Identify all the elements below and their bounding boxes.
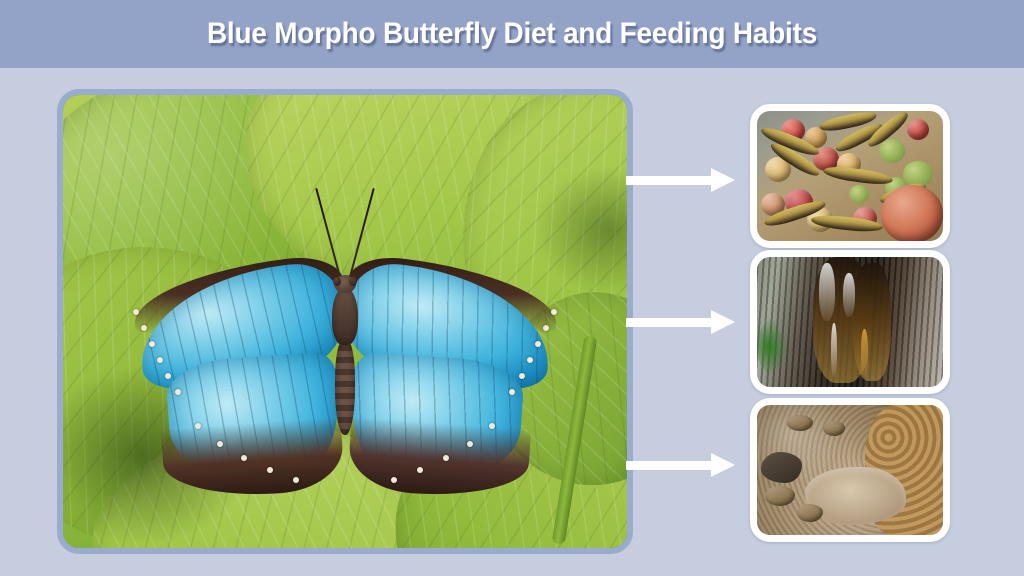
arrow-to-tree-sap [626,310,738,335]
rock [765,486,795,506]
rock [797,504,823,522]
arrow-to-rotting-fruit [626,168,738,193]
page-title: Blue Morpho Butterfly Diet and Feeding H… [36,0,988,68]
thorax [332,287,358,345]
sap-drip [831,323,837,377]
green-fruit [879,139,905,163]
arrow-shaft [626,176,714,185]
dark-rock [761,452,802,483]
sap-highlight [843,273,855,317]
thumbnail-rotting-fruit [750,104,950,248]
abdomen [335,339,355,435]
moss-patch [757,319,787,375]
sap-flow [853,263,891,381]
apple [907,119,929,140]
eye-left [333,277,341,286]
sap-highlight [819,263,835,321]
arrow-shaft [626,461,714,470]
thumbnail-image-mud-puddle [757,405,943,535]
thumbnail-tree-sap [750,250,950,394]
arrow-head-icon [711,453,735,477]
green-fruit [849,185,869,203]
arrow-to-mud-puddle [626,453,738,478]
thumbnail-image-rotting-fruit [757,111,943,241]
rock [823,421,845,436]
thumbnail-mud-puddle [750,398,950,542]
arrow-head-icon [711,168,735,192]
hero-image-frame [57,89,633,554]
thumbnail-image-tree-sap [757,257,943,387]
sap-drip [861,329,868,377]
header-band: Blue Morpho Butterfly Diet and Feeding H… [0,0,1024,68]
pomegranate [881,185,943,241]
arrow-head-icon [711,310,735,334]
eye-right [349,277,357,286]
blue-morpho-butterfly-on-leaves [63,95,627,548]
arrow-shaft [626,318,714,327]
